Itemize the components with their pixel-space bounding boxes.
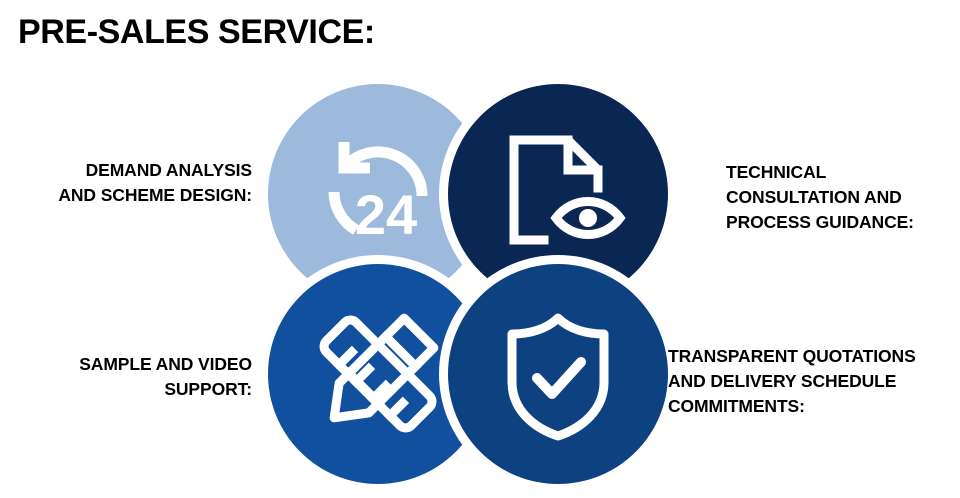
label-transparent-quotations: TRANSPARENT QUOTATIONS AND DELIVERY SCHE…: [668, 344, 960, 419]
label-line: TECHNICAL: [726, 160, 954, 185]
icon-label-24: 24: [355, 183, 417, 246]
label-line: AND DELIVERY SCHEDULE: [668, 369, 960, 394]
label-line: AND SCHEME DESIGN:: [10, 183, 252, 208]
segment-transparent-quotations[interactable]: [439, 255, 674, 490]
label-line: PROCESS GUIDANCE:: [726, 210, 954, 235]
label-line: SUPPORT:: [10, 377, 252, 402]
label-sample-video-support: SAMPLE AND VIDEO SUPPORT:: [10, 352, 252, 402]
page-title: PRE-SALES SERVICE:: [18, 10, 375, 54]
infographic-page: PRE-SALES SERVICE: 24: [0, 0, 960, 498]
circle-transparent-quotations[interactable]: [448, 264, 668, 484]
label-line: TRANSPARENT QUOTATIONS: [668, 344, 960, 369]
label-line: COMMITMENTS:: [668, 394, 960, 419]
label-technical-consultation: TECHNICAL CONSULTATION AND PROCESS GUIDA…: [726, 160, 954, 235]
label-line: DEMAND ANALYSIS: [10, 158, 252, 183]
label-line: SAMPLE AND VIDEO: [10, 352, 252, 377]
four-circle-diagram: 24: [262, 78, 674, 490]
label-demand-analysis: DEMAND ANALYSIS AND SCHEME DESIGN:: [10, 158, 252, 208]
label-line: CONSULTATION AND: [726, 185, 954, 210]
